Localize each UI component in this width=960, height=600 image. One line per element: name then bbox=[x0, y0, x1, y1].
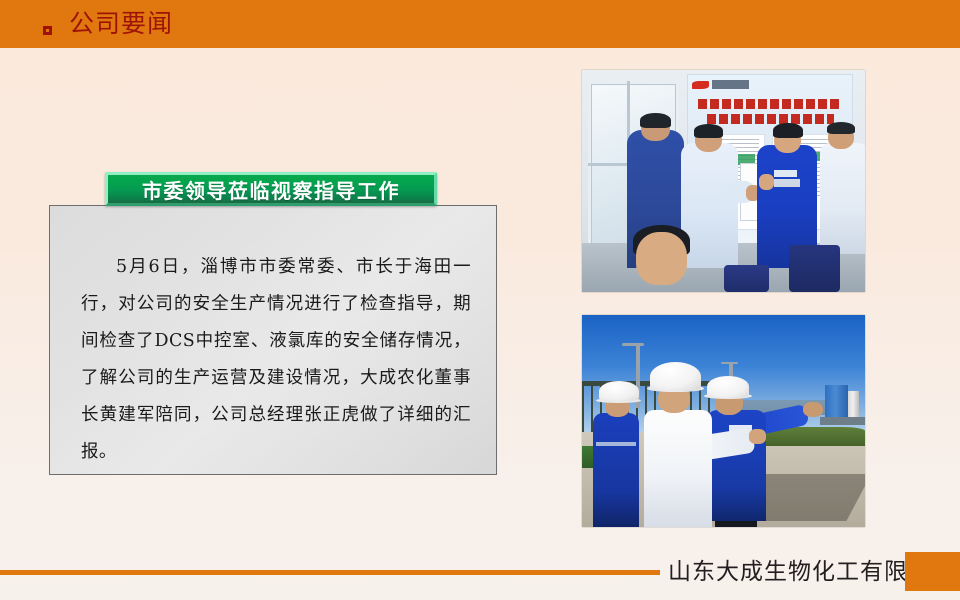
chair-center bbox=[724, 265, 769, 292]
person-shirt-center-body bbox=[681, 143, 738, 267]
photo-outdoor-inspection bbox=[582, 315, 865, 527]
square-bullet-icon bbox=[43, 26, 52, 35]
page-title: 公司要闻 bbox=[69, 9, 173, 39]
person-worker-badge-lower bbox=[774, 179, 799, 187]
hard-hat-right-icon bbox=[707, 376, 749, 397]
person-worker-blue-right-hair bbox=[773, 123, 803, 137]
street-lamp-arm-left bbox=[622, 343, 645, 346]
article-text-box: 5月6日，淄博市市委常委、市长于海田一行，对公司的安全生产情况进行了检查指导，期… bbox=[49, 205, 497, 475]
person-shirt-far-right-hair bbox=[827, 122, 855, 134]
article-paragraph: 5月6日，淄博市市委常委、市长于海田一行，对公司的安全生产情况进行了检查指导，期… bbox=[81, 249, 471, 471]
footer-accent-block bbox=[905, 552, 960, 591]
chair-right bbox=[789, 245, 840, 292]
company-logo-mark-icon bbox=[692, 81, 709, 89]
person-worker-badge-upper bbox=[774, 170, 797, 177]
person-worker-left-body bbox=[593, 413, 638, 527]
storage-tank-blue bbox=[825, 385, 848, 419]
board-title-line-2 bbox=[707, 114, 834, 124]
person-leader-body bbox=[644, 410, 712, 527]
photo-indoor-briefing bbox=[582, 70, 865, 292]
storage-tank-silver bbox=[848, 391, 859, 419]
slide-canvas: 公司要闻 市委领导莅临视察指导工作 5月6日，淄博市市委常委、市长于海田一行，对… bbox=[0, 0, 960, 600]
person-pointing-worker-hand bbox=[803, 402, 823, 417]
footer-rule bbox=[0, 570, 660, 575]
board-title-line-1 bbox=[698, 99, 842, 109]
person-leader-hand bbox=[749, 429, 766, 444]
section-banner-label: 市委领导莅临视察指导工作 bbox=[142, 175, 400, 204]
company-logo-text bbox=[712, 80, 749, 89]
person-worker-blue-left-hair bbox=[640, 113, 671, 127]
person-shirt-center-hair bbox=[694, 124, 724, 137]
hard-hat-center-icon bbox=[650, 362, 701, 392]
photo-indoor-content bbox=[582, 70, 865, 292]
person-worker-left-stripe bbox=[596, 442, 636, 446]
person-foreground-head bbox=[636, 232, 687, 285]
photo-outdoor-content bbox=[582, 315, 865, 527]
hard-hat-left-icon bbox=[599, 381, 639, 401]
section-banner: 市委领导莅临视察指导工作 bbox=[105, 172, 437, 206]
tank-base bbox=[820, 417, 865, 425]
person-worker-blue-right-hand bbox=[759, 174, 775, 190]
person-shirt-far-right-body bbox=[820, 143, 865, 254]
